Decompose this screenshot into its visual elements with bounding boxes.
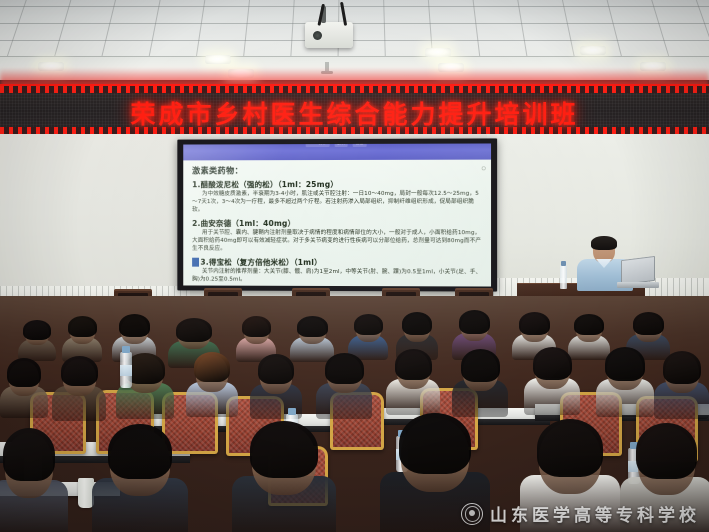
attendee-hair (399, 413, 471, 474)
projection-screen-frame: WPS 演示放映批注 激素类药物： 1.醋酸泼尼松（强的松）（1ml：25mg）… (177, 138, 497, 291)
attendee-front-row (0, 424, 68, 532)
ceiling-projector-icon (305, 22, 353, 48)
attendee-back-row (62, 314, 102, 358)
ceiling-grid-line (290, 0, 294, 58)
attendee-hair (533, 347, 572, 380)
slide-toolbar-chip[interactable]: 放映 (334, 143, 348, 147)
attendee-hair (633, 312, 664, 335)
presenter-hair (591, 236, 617, 250)
banner-top-trim (0, 86, 709, 93)
downlight-icon (580, 46, 606, 55)
laptop-keyboard (617, 282, 659, 288)
attendee-hair (663, 351, 701, 384)
attendee-hair (250, 421, 318, 478)
ceiling-grid-line (517, 0, 527, 58)
attendee-middle-row (654, 348, 709, 414)
ceiling-grid-line (148, 0, 160, 58)
slide-paragraph: 为中效糖皮质激素，半衰期为3-4小时，肌注或关节腔注射：一日10～40mg，局封… (192, 191, 484, 215)
school-seal-icon (461, 503, 483, 525)
slide-heading: 2.曲安奈德（1ml：40mg） (192, 218, 484, 229)
attendee-hair (402, 312, 432, 335)
slide-paragraph: 用于关节腔、囊内、腱鞘内注射剂量取决于病情的程度和病情部位的大小，一般对于成人，… (192, 230, 484, 254)
attendee-hair (636, 423, 697, 479)
attendee-hair (519, 312, 550, 335)
attendee-middle-row (250, 352, 302, 414)
attendee-middle-row (0, 356, 48, 414)
led-banner-panel: 荣成市乡村医生综合能力提升培训班 (0, 84, 709, 136)
slide-toolbar-chip[interactable]: 批注 (353, 143, 367, 146)
attendee-middle-row (452, 346, 508, 412)
attendee-hair (3, 428, 55, 481)
attendee-hair (108, 424, 172, 479)
audience-area (0, 296, 709, 532)
slide-content: 激素类药物： 1.醋酸泼尼松（强的松）（1ml：25mg）为中效糖皮质激素，半衰… (183, 160, 491, 287)
attendee-hair (242, 316, 271, 337)
attendee-hair (395, 349, 432, 380)
attendee-hair (61, 356, 98, 386)
ceiling-grid-line (651, 0, 670, 58)
ceiling-grid-line (562, 0, 575, 58)
attendee-hair (461, 349, 500, 382)
attendee-middle-row (316, 350, 372, 414)
presenter-laptop (617, 258, 657, 288)
slide-corner-glyph: ○ (482, 166, 486, 172)
attendee-hair (68, 316, 97, 337)
ceiling-grid-line (0, 6, 709, 7)
presenter-water-bottle (560, 265, 567, 289)
watermark-text: 山东医学高等专科学校 (490, 501, 700, 526)
led-banner: 荣成市乡村医生综合能力提升培训班 (0, 76, 709, 136)
slide-app-toolbar: WPS 演示放映批注 (183, 143, 491, 160)
ceiling-grid-line (196, 0, 206, 58)
slide-paragraph: 关节内注射的推荐剂量：大关节(膝、髋、肩)为1至2ml，中等关节(肘、腕、踝)为… (192, 268, 484, 285)
attendee-hair (258, 354, 294, 384)
bottle-cap-icon (122, 346, 130, 353)
attendee-hair (194, 352, 230, 382)
slide-toolbar-chips: WPS 演示放映批注 (306, 143, 367, 147)
watermark: 山东医学高等专科学校 (461, 501, 700, 526)
slide-title: 激素类药物： (192, 164, 484, 177)
attendee-hair (605, 347, 645, 381)
attendee-middle-row (186, 350, 238, 412)
attendee-hair (459, 310, 490, 334)
attendee-middle-row (524, 344, 580, 410)
bottle-cap-icon (288, 408, 296, 415)
banner-title-text: 荣成市乡村医生综合能力提升培训班 (0, 95, 709, 131)
slide-heading: 1.醋酸泼尼松（强的松）（1ml：25mg） (192, 179, 484, 190)
ceiling-grid-line (0, 23, 709, 24)
ceiling-grid-line (0, 40, 709, 41)
attendee-hair (23, 320, 51, 340)
ceiling-grid-line (607, 0, 623, 58)
projection-screen: WPS 演示放映批注 激素类药物： 1.醋酸泼尼松（强的松）（1ml：25mg）… (183, 143, 491, 286)
attendee-hair (325, 353, 364, 384)
attendee-middle-row (386, 346, 440, 410)
attendee-front-row (232, 416, 336, 532)
attendee-middle-row (52, 354, 106, 416)
slide-toolbar-chip[interactable]: WPS 演示 (306, 143, 329, 147)
attendee-middle-row (596, 344, 654, 412)
slide-bullet-marker: ■ (192, 257, 199, 266)
ceiling-grid-line (54, 0, 72, 58)
attendee-hair (7, 358, 41, 387)
water-bottle (120, 352, 132, 388)
ceiling-grid-line (473, 0, 481, 58)
ceiling-grid-line (101, 0, 116, 58)
attendee-back-row (18, 318, 56, 358)
attendee-hair (354, 314, 383, 335)
downlight-icon (205, 55, 231, 64)
ceiling-grid-line (383, 0, 386, 58)
downlight-icon (425, 48, 451, 57)
laptop-screen (621, 256, 655, 285)
attendee-hair (297, 316, 328, 337)
ceiling-grid-line (243, 0, 250, 58)
photograph-root: 荣成市乡村医生综合能力提升培训班 WPS 演示放映批注 激素类药物： 1.醋酸泼… (0, 0, 709, 532)
slide-heading: ■3.得宝松（复方倍他米松）（1ml） (192, 256, 484, 268)
attendee-hair (176, 318, 212, 342)
bottle-label (120, 365, 132, 376)
attendee-hair (574, 314, 604, 335)
attendee-front-row (92, 420, 188, 532)
ceiling-grid-line (696, 0, 709, 58)
slide-block-list: 1.醋酸泼尼松（强的松）（1ml：25mg）为中效糖皮质激素，半衰期为3-4小时… (192, 179, 484, 285)
ceiling-grid-line (6, 0, 27, 58)
attendee-hair (537, 419, 603, 477)
attendee-hair (119, 314, 150, 337)
projector-lens-icon (313, 31, 322, 40)
ceiling (0, 0, 709, 78)
